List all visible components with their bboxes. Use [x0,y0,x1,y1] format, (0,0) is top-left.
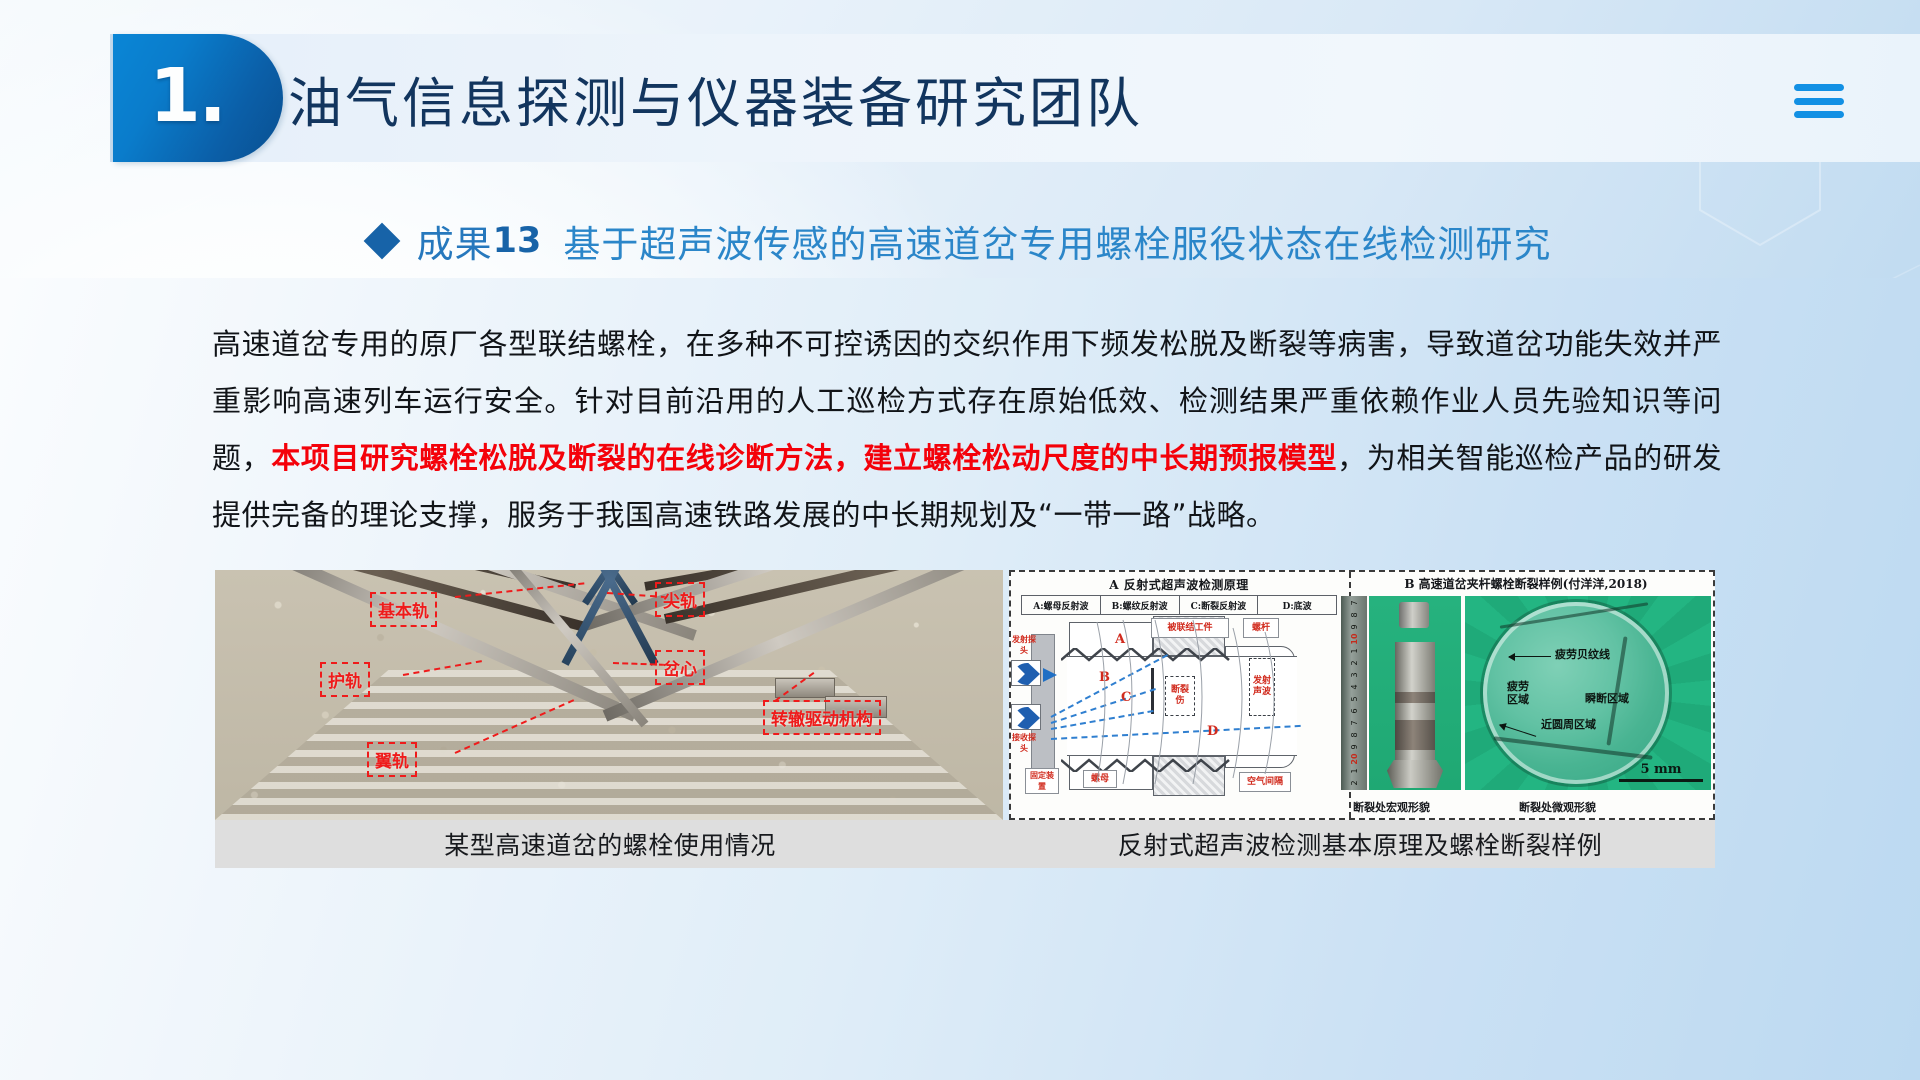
diagram-a-ultrasonic-principle: A 反射式超声波检测原理 A:螺母反射波 B:螺纹反射波 C:断裂反射波 D:底… [1011,572,1347,818]
label-fatigue-zone: 疲劳 区域 [1507,680,1529,706]
hamburger-menu-icon[interactable] [1794,84,1844,118]
scale-bar: 5 mm [1619,762,1703,782]
bolt-head [1399,602,1429,628]
paragraph-highlight: 本项目研究螺栓松脱及断裂的在线诊断方法，建立螺栓松动尺度的中长期预报模型 [271,441,1337,475]
sample-b-footnote-right: 断裂处微观形貌 [1519,799,1596,815]
bolt-macro-photo [1369,596,1461,790]
slide-header: 1. 油气信息探测与仪器装备研究团队 [0,34,1920,162]
bolt-flange [1387,760,1443,788]
sound-wave-arcs-icon [1051,612,1311,802]
annotation-yigui: 翼轨 [367,742,417,777]
menu-bar-1 [1794,84,1844,91]
label-recv-probe: 接收探头 [1009,732,1039,754]
annotation-hugui: 护轨 [320,662,370,697]
high-speed-turnout-photo: 基本轨 尖轨 护轨 岔心 转辙驱动机构 翼轨 [215,570,1003,820]
caption-left: 某型高速道岔的螺栓使用情况 [215,820,1005,868]
receiving-probe-icon [1011,704,1041,730]
subtitle-number: 13 [493,221,542,261]
fracture-micro-photo: 疲劳贝纹线 疲劳 区域 瞬断区域 近圆周区域 5 mm [1465,596,1711,790]
ruler-scale: 7 8 9 10 1 2 3 4 5 6 7 8 9 20 1 2 [1341,596,1367,790]
section-number: 1. [149,59,225,133]
caption-right: 反射式超声波检测基本原理及螺栓断裂样例 [1005,820,1715,868]
label-near-circ-zone: 近圆周区域 [1541,718,1596,731]
subtitle-text: 基于超声波传感的高速道岔专用螺栓服役状态在线检测研究 [563,214,1551,268]
figure-row: 基本轨 尖轨 护轨 岔心 转辙驱动机构 翼轨 A 反射式超声波检测原理 A:螺母… [215,570,1715,820]
scale-bar-text: 5 mm [1640,762,1681,777]
arrow-beach-marks [1509,656,1551,657]
ultrasonic-principle-and-sample-panel: A 反射式超声波检测原理 A:螺母反射波 B:螺纹反射波 C:断裂反射波 D:底… [1009,570,1715,820]
label-instant-zone: 瞬断区域 [1585,692,1629,705]
menu-bar-2 [1794,98,1844,105]
ruler-tick: 2 [1349,772,1359,794]
scale-bar-line [1619,779,1703,782]
sample-b-title: B 高速道岔夹杆螺栓断裂样例(付洋洋,2018) [1335,575,1715,592]
section-number-badge: 1. [113,34,283,162]
label-beach-marks: 疲劳贝纹线 [1555,648,1610,661]
diagram-a-title: A 反射式超声波检测原理 [1011,576,1347,593]
section-subtitle: 成果 13 基于超声波传感的高速道岔专用螺栓服役状态在线检测研究 [0,210,1920,272]
label-emit-probe: 发射探头 [1009,634,1039,656]
annotation-chaxin: 岔心 [655,650,705,685]
annotation-jibengui: 基本轨 [370,592,437,627]
figure-caption-bar: 某型高速道岔的螺栓使用情况 反射式超声波检测基本原理及螺栓断裂样例 [215,820,1715,868]
subtitle-prefix: 成果 [417,214,493,268]
annotation-zhuanche-qudong: 转辙驱动机构 [763,700,881,735]
bolt-band-1 [1395,692,1435,703]
page-title: 油气信息探测与仪器装备研究团队 [288,34,1143,162]
emitting-probe-icon [1011,660,1041,686]
body-paragraph: 高速道岔专用的原厂各型联结螺栓，在多种不可控诱因的交织作用下频发松脱及断裂等病害… [212,316,1722,544]
bolt-band-2 [1395,720,1435,750]
annotation-jiangui: 尖轨 [655,582,705,617]
sample-b-footnote-left: 断裂处宏观形貌 [1353,799,1430,815]
sample-b-bolt-fracture: B 高速道岔夹杆螺栓断裂样例(付洋洋,2018) 7 8 9 10 1 2 3 … [1335,572,1715,818]
menu-bar-3 [1794,111,1844,118]
diamond-bullet-icon [363,223,400,260]
